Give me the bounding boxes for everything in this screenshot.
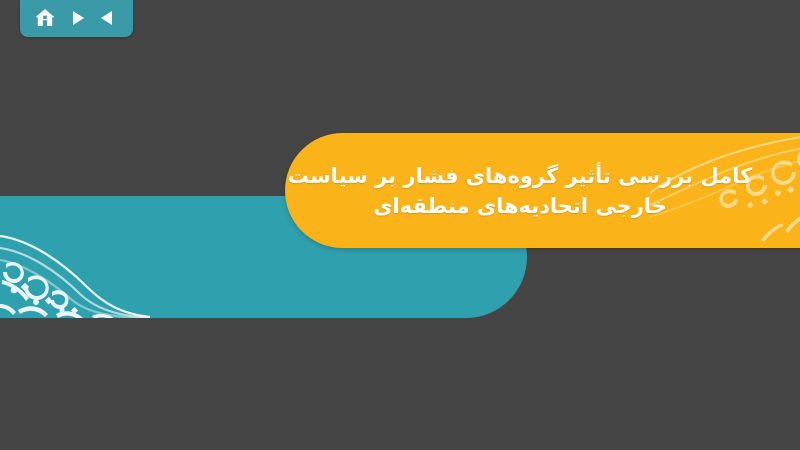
- triangle-right-icon: [68, 9, 86, 27]
- previous-slide-button[interactable]: [95, 5, 121, 31]
- navigation-bar: [20, 0, 133, 37]
- next-slide-button[interactable]: [64, 5, 90, 31]
- home-button[interactable]: [32, 5, 58, 31]
- arabesque-ornament-orange: [650, 133, 800, 248]
- triangle-left-icon: [99, 9, 117, 27]
- home-icon: [34, 7, 56, 29]
- orange-title-banner: [285, 133, 800, 248]
- slide-canvas: کامل بررسی تأثیر گروه‌های فشار بر سیاست …: [0, 0, 800, 450]
- arabesque-ornament-teal: [0, 218, 150, 318]
